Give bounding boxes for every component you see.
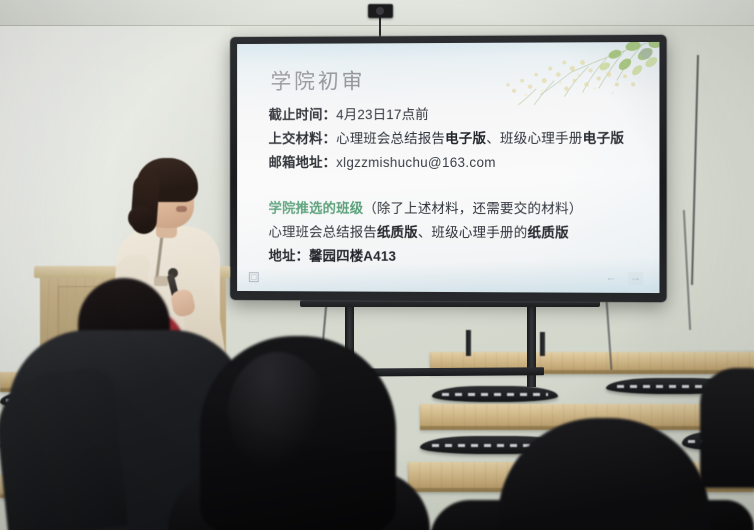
address-label: 地址：	[269, 248, 310, 263]
display-screen[interactable]: 学院初审 截止时间：4月23日17点前 上交材料：心理班会总结报告电子版、班级心…	[237, 42, 659, 293]
slide-prev-icon[interactable]: ←	[604, 272, 619, 285]
materials-value-2: 班级心理手册	[500, 131, 583, 146]
chair-back	[432, 386, 558, 402]
address-value: 馨园四楼A413	[309, 249, 396, 264]
materials-emphasis-2: 电子版	[583, 131, 625, 146]
slide-navigation[interactable]: ← →	[604, 272, 643, 285]
audience-student-far-right	[700, 368, 754, 488]
materials-separator: 、	[486, 131, 500, 146]
slide-next-icon[interactable]: →	[628, 272, 643, 285]
presenter-mouth	[176, 206, 187, 212]
presenter-badge	[154, 276, 168, 286]
hair-highlight	[228, 352, 328, 472]
materials-value: 心理班会总结报告	[336, 131, 445, 146]
slide-line-section-heading: 学院推选的班级（除了上述材料，还需要交的材料）	[269, 197, 642, 222]
slide-corner-square-icon[interactable]	[249, 272, 259, 282]
paper-value-2: 班级心理手册的	[431, 225, 527, 240]
email-value: xlgzzmishuchu@163.com	[336, 155, 496, 170]
slide-body: 截止时间：4月23日17点前 上交材料：心理班会总结报告电子版、班级心理手册电子…	[269, 102, 642, 269]
paper-separator: 、	[418, 225, 432, 240]
slide-line-address: 地址：馨园四楼A413	[269, 244, 642, 269]
presentation-slide[interactable]: 学院初审 截止时间：4月23日17点前 上交材料：心理班会总结报告电子版、班级心…	[237, 42, 659, 293]
materials-label: 上交材料：	[269, 131, 337, 146]
section-heading-green: 学院推选的班级	[269, 201, 364, 216]
display-brand-logo	[640, 48, 651, 59]
paper-emphasis-1: 纸质版	[377, 225, 418, 240]
paper-value: 心理班会总结报告	[269, 225, 377, 240]
section-heading-paren: （除了上述材料，还需要交的材料）	[363, 201, 582, 216]
interactive-smart-display[interactable]: 学院初审 截止时间：4月23日17点前 上交材料：心理班会总结报告电子版、班级心…	[230, 35, 666, 302]
classroom-photo: 学院初审 截止时间：4月23日17点前 上交材料：心理班会总结报告电子版、班级心…	[0, 0, 754, 530]
materials-emphasis-1: 电子版	[445, 131, 486, 146]
camera-lens-icon	[376, 7, 384, 15]
slide-line-email: 邮箱地址：xlgzzmishuchu@163.com	[269, 151, 642, 175]
ceiling-edge-line	[0, 25, 754, 26]
slide-line-materials: 上交材料：心理班会总结报告电子版、班级心理手册电子版	[269, 127, 642, 151]
deadline-value: 4月23日17点前	[336, 107, 429, 122]
deadline-label: 截止时间：	[269, 107, 337, 122]
paper-emphasis-2: 纸质版	[527, 225, 568, 240]
wall-right-panel	[658, 20, 754, 350]
email-label: 邮箱地址：	[269, 155, 337, 170]
slide-line-paper-materials: 心理班会总结报告纸质版、班级心理手册的纸质版	[269, 221, 642, 246]
student-shoulder	[0, 366, 128, 530]
slide-spacer	[269, 175, 642, 197]
presenter-hair-bun	[128, 206, 154, 230]
chair-post	[466, 330, 471, 356]
slide-line-deadline: 截止时间：4月23日17点前	[269, 102, 642, 127]
slide-title: 学院初审	[271, 65, 366, 95]
chair-post	[540, 332, 545, 356]
